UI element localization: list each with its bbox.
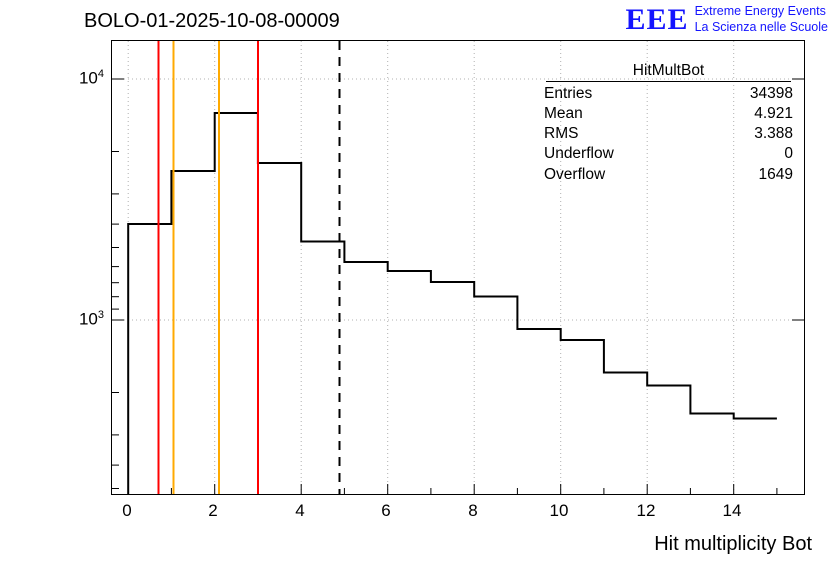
stats-value: 4.921	[754, 104, 793, 124]
eee-logo-text: Extreme Energy Events La Scienza nelle S…	[695, 4, 828, 35]
stats-key: Underflow	[544, 144, 614, 164]
stats-row: RMS3.388	[536, 124, 801, 144]
stats-value: 34398	[750, 84, 793, 104]
page-title: BOLO-01-2025-10-08-00009	[84, 10, 340, 33]
eee-logo-mark: EEE	[626, 5, 689, 35]
vertical-markers	[159, 41, 340, 494]
x-axis-title: Hit multiplicity Bot	[654, 533, 812, 556]
stats-row: Overflow1649	[536, 165, 801, 185]
stats-key: Entries	[544, 84, 592, 104]
stats-title: HitMultBot	[546, 62, 791, 82]
x-tick-label-2: 2	[193, 501, 233, 521]
y-tick-label-1e3: 103	[52, 309, 104, 330]
x-tick-label-0: 0	[107, 501, 147, 521]
x-tick-label-12: 12	[626, 501, 666, 521]
eee-logo: EEE Extreme Energy Events La Scienza nel…	[626, 4, 828, 35]
y-tick-label-1e4: 104	[52, 68, 104, 89]
x-tick-label-4: 4	[280, 501, 320, 521]
x-tick-label-10: 10	[539, 501, 579, 521]
x-tick-label-14: 14	[712, 501, 752, 521]
x-tick-label-6: 6	[366, 501, 406, 521]
eee-logo-line2: La Scienza nelle Scuole	[695, 20, 828, 36]
stats-key: Mean	[544, 104, 583, 124]
stats-value: 1649	[759, 165, 793, 185]
stats-key: Overflow	[544, 165, 605, 185]
stats-row: Underflow0	[536, 144, 801, 164]
stats-value: 0	[784, 144, 793, 164]
stats-value: 3.388	[754, 124, 793, 144]
eee-logo-line1: Extreme Energy Events	[695, 4, 828, 20]
stats-box: HitMultBot Entries34398 Mean4.921 RMS3.3…	[536, 62, 801, 185]
chart-page: BOLO-01-2025-10-08-00009 EEE Extreme Ene…	[0, 0, 836, 572]
x-tick-label-8: 8	[453, 501, 493, 521]
stats-row: Mean4.921	[536, 104, 801, 124]
stats-key: RMS	[544, 124, 578, 144]
stats-row: Entries34398	[536, 84, 801, 104]
